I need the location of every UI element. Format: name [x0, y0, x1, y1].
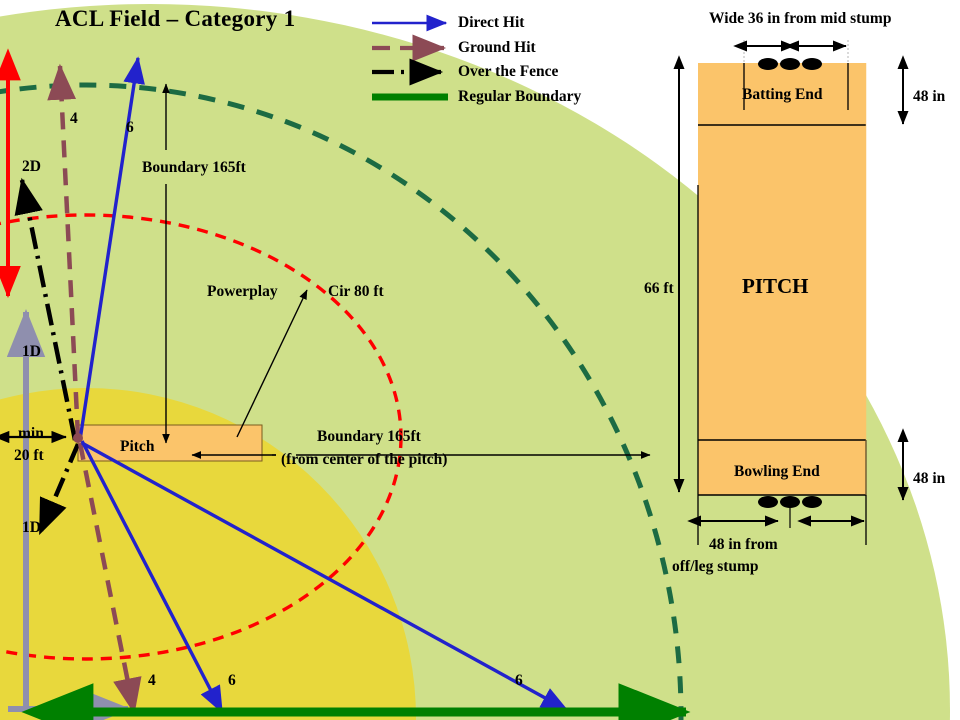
stump-top-2: [780, 58, 800, 70]
hit-marker-bottom-six-right: 6: [515, 672, 523, 689]
boundary-165-center-label-line1: Boundary 165ft: [317, 428, 421, 445]
hit-marker-bottom-six-left: 6: [228, 672, 236, 689]
powerplay-label: Powerplay: [207, 283, 278, 300]
hit-marker-bottom-four: 4: [148, 672, 156, 689]
boundary-165-center-label-line2: (from center of the pitch): [281, 451, 447, 468]
hit-marker-top-four: 4: [70, 110, 78, 127]
min-distance-label-line2: 20 ft: [14, 447, 44, 464]
page-title: ACL Field – Category 1: [55, 6, 295, 32]
distance-1d-upper-label: 1D: [22, 343, 41, 360]
stump-top-3: [802, 58, 822, 70]
legend-label-ground-hit: Ground Hit: [458, 39, 536, 56]
stump-top-1: [758, 58, 778, 70]
batting-end-label: Batting End: [742, 86, 823, 103]
cricket-field-diagram: ACL Field – Category 1 Direct Hit Ground…: [0, 0, 960, 720]
distance-2d-label: 2D: [22, 158, 41, 175]
distance-1d-lower-label: 1D: [22, 519, 41, 536]
crease-dimension-bottom-label: 48 in: [913, 470, 945, 487]
stump-note-line2: off/leg stump: [672, 558, 759, 575]
legend-label-direct-hit: Direct Hit: [458, 14, 524, 31]
crease-dimension-top-label: 48 in: [913, 88, 945, 105]
powerplay-circle-label: Cir 80 ft: [328, 283, 384, 300]
stump-bottom-1: [758, 496, 778, 508]
boundary-165-top-label: Boundary 165ft: [142, 159, 246, 176]
field-graphics: [0, 0, 960, 720]
bowling-end-label: Bowling End: [734, 463, 820, 480]
stump-note-line1: 48 in from: [709, 536, 778, 553]
legend-label-over-the-fence: Over the Fence: [458, 63, 558, 80]
pitch-centre-marker: [73, 433, 83, 443]
hit-marker-top-six: 6: [126, 119, 134, 136]
pitch-box-label: Pitch: [120, 438, 154, 455]
pitch-length-label: 66 ft: [644, 280, 674, 297]
stump-bottom-3: [802, 496, 822, 508]
min-distance-label-line1: min: [18, 425, 44, 442]
pitch-detail-title: PITCH: [742, 275, 809, 299]
legend-label-regular-boundary: Regular Boundary: [458, 88, 581, 105]
wide-rule-label: Wide 36 in from mid stump: [709, 10, 891, 27]
